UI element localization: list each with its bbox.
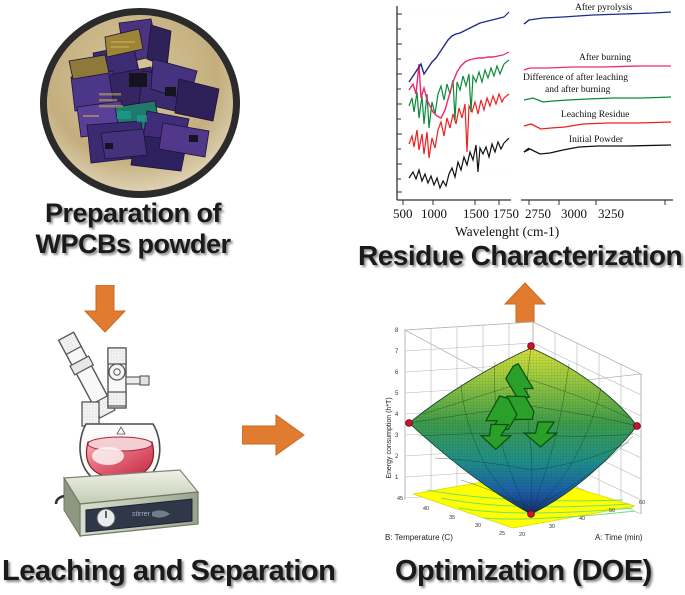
svg-text:stirrer: stirrer bbox=[132, 511, 151, 518]
ftir-xtick-1750: 1750 bbox=[493, 206, 519, 221]
doe-ztick-2: 2 bbox=[395, 454, 399, 460]
ftir-legend-leaching-residue: Leaching Residue bbox=[561, 110, 629, 120]
arrow-right-icon bbox=[242, 412, 306, 458]
ftir-xtick-3000: 3000 bbox=[561, 206, 587, 221]
leaching-apparatus: stirrer bbox=[20, 320, 230, 550]
doe-ztick-4: 4 bbox=[395, 412, 399, 418]
photo-ring-border bbox=[40, 8, 240, 198]
ftir-legend-after-burning: After burning bbox=[579, 52, 631, 63]
doe-xtick-30: 30 bbox=[549, 524, 555, 530]
ftir-spectra-chart: After pyrolysis After burning Difference… bbox=[383, 2, 683, 242]
design-point-front bbox=[528, 511, 535, 518]
doe-xtick-50: 50 bbox=[609, 508, 615, 514]
design-point-left bbox=[406, 420, 413, 427]
doe-xaxis-title: A: Time (min) bbox=[595, 533, 643, 542]
design-point-right bbox=[634, 423, 641, 430]
doe-yaxis-title: B: Temperature (C) bbox=[385, 533, 453, 542]
doe-ytick-30: 30 bbox=[475, 523, 481, 529]
doe-zaxis-title: Energy consumption (h*T) bbox=[386, 397, 393, 478]
doe-ztick-8: 8 bbox=[395, 328, 399, 334]
doe-ztick-1: 1 bbox=[395, 475, 399, 481]
doe-ytick-35: 35 bbox=[449, 515, 455, 521]
ftir-legend-difference-line1: Difference of after leaching bbox=[523, 72, 628, 83]
ftir-xtick-1000: 1000 bbox=[421, 206, 447, 221]
ftir-legend-difference-line2: and after burning bbox=[545, 84, 611, 95]
ftir-xtick-2750: 2750 bbox=[525, 206, 551, 221]
ftir-xaxis-title: Wavelenght (cm-1) bbox=[455, 224, 559, 239]
ftir-xtick-1500: 1500 bbox=[463, 206, 489, 221]
doe-ztick-3: 3 bbox=[395, 433, 399, 439]
design-point-back bbox=[528, 343, 535, 350]
caption-leaching: Leaching and Separation bbox=[2, 555, 335, 588]
doe-ytick-45: 45 bbox=[397, 496, 403, 502]
ftir-plot: After pyrolysis After burning Difference… bbox=[383, 2, 683, 242]
doe-xtick-60: 60 bbox=[639, 500, 645, 506]
doe-surface-chart: 8 7 6 5 4 3 2 1 45 40 35 30 25 20 30 40 … bbox=[383, 318, 683, 556]
ftir-xtick-500: 500 bbox=[393, 206, 413, 221]
photo-content bbox=[47, 15, 233, 191]
caption-residue: Residue Characterization bbox=[358, 240, 682, 272]
wpcb-photo bbox=[40, 8, 240, 198]
doe-xtick-40: 40 bbox=[579, 516, 585, 522]
ftir-xtick-3250: 3250 bbox=[598, 206, 624, 221]
doe-ytick-25: 25 bbox=[499, 531, 505, 537]
caption-optimization: Optimization (DOE) bbox=[395, 555, 652, 588]
flask-hotplate-illustration: stirrer bbox=[20, 320, 230, 550]
doe-ztick-7: 7 bbox=[395, 349, 399, 355]
doe-ytick-40: 40 bbox=[423, 506, 429, 512]
doe-xtick-20: 20 bbox=[519, 532, 525, 538]
pcb-illustration bbox=[47, 15, 233, 191]
ftir-legend-after-pyrolysis: After pyrolysis bbox=[575, 2, 633, 13]
doe-ztick-5: 5 bbox=[395, 391, 399, 397]
doe-3d-plot: 8 7 6 5 4 3 2 1 45 40 35 30 25 20 30 40 … bbox=[383, 318, 683, 556]
caption-preparation: Preparation of WPCBs powder bbox=[8, 198, 258, 260]
ftir-legend-initial-powder: Initial Powder bbox=[569, 135, 624, 145]
doe-ztick-6: 6 bbox=[395, 370, 399, 376]
